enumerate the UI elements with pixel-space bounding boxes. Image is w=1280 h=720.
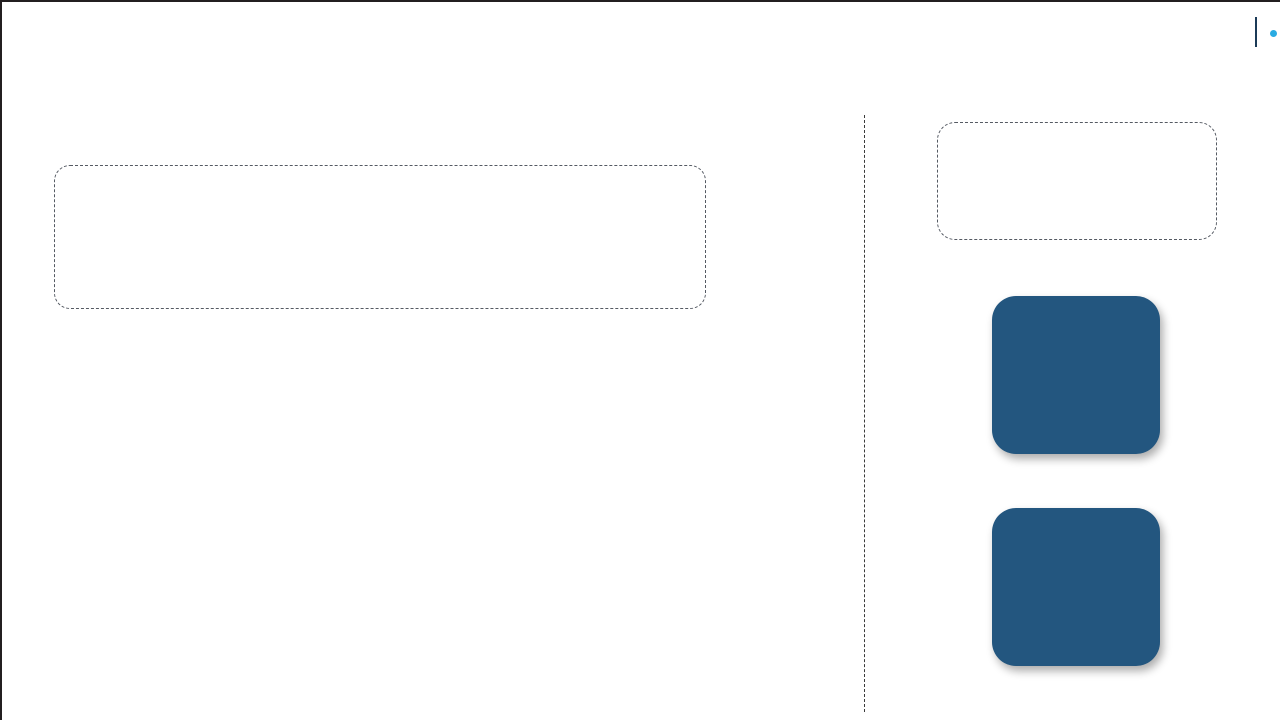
highest-cagr-card bbox=[992, 296, 1160, 454]
growth-rate-chart bbox=[62, 332, 752, 712]
list-item bbox=[79, 177, 705, 208]
donut-chart bbox=[1014, 313, 1138, 437]
market-growth-rate-card bbox=[937, 122, 1217, 240]
list-item bbox=[79, 238, 705, 269]
material-types-box bbox=[54, 165, 706, 309]
donut-chart bbox=[1014, 525, 1138, 649]
imarc-logo bbox=[1252, 10, 1264, 54]
list-item bbox=[79, 208, 705, 239]
logo-dot-icon bbox=[1270, 30, 1277, 37]
logo-divider bbox=[1255, 17, 1257, 47]
donut-value bbox=[1014, 313, 1138, 437]
chart-plot-area bbox=[62, 332, 752, 677]
list-item bbox=[79, 269, 705, 300]
donut-value bbox=[1014, 525, 1138, 649]
vertical-divider bbox=[864, 115, 865, 712]
infographic-page bbox=[0, 0, 1280, 720]
largest-market-card bbox=[992, 508, 1160, 666]
